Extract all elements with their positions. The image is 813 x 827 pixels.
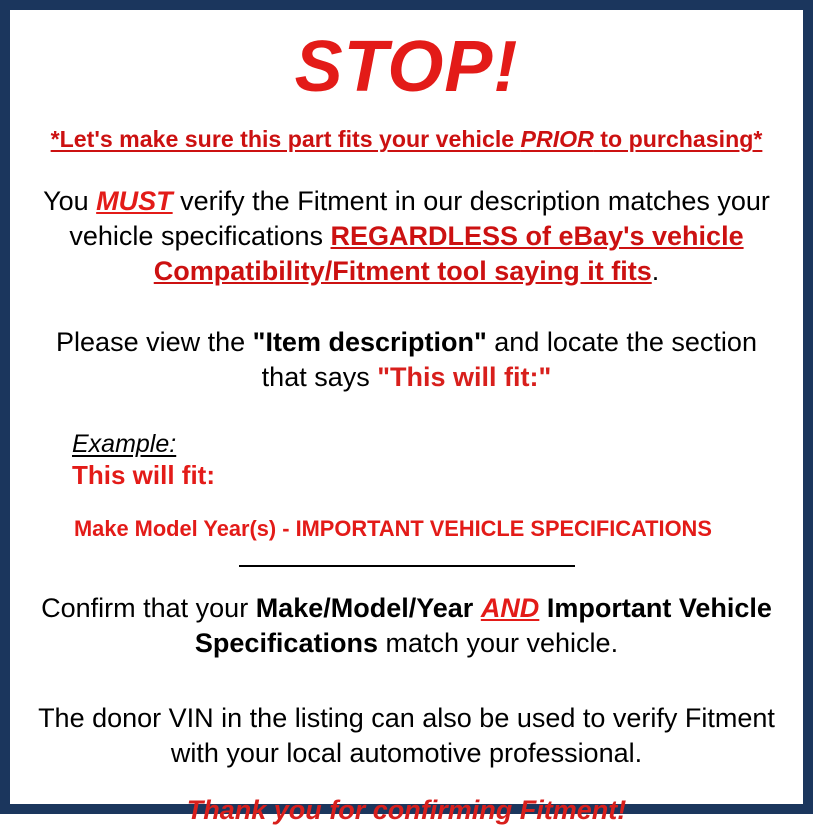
must-emphasis: MUST (96, 186, 173, 216)
page-title: STOP! (24, 24, 789, 110)
must-text-part3: . (652, 256, 660, 286)
divider-wrap (24, 565, 789, 567)
thank-you-message: Thank you for confirming Fitment! (24, 793, 789, 827)
confirm-space1 (473, 593, 481, 623)
please-text-part1: Please view the (56, 327, 253, 357)
paragraph-must-verify: You MUST verify the Fitment in our descr… (24, 184, 789, 289)
confirm-text-part4: match your vehicle. (378, 628, 618, 658)
subtitle-trail-text: to purchasing* (594, 126, 762, 152)
example-label: Example: (72, 429, 176, 459)
paragraph-item-description: Please view the "Item description" and l… (24, 325, 789, 395)
paragraph-confirm-match: Confirm that your Make/Model/Year AND Im… (24, 591, 789, 661)
this-will-fit-quote: "This will fit:" (377, 362, 551, 392)
example-fit-heading: This will fit: (72, 459, 789, 491)
subtitle-lead-text: *Let's make sure this part fits your veh… (51, 126, 521, 152)
confirm-text-part1: Confirm that your (41, 593, 256, 623)
fitment-notice-card: STOP! *Let's make sure this part fits yo… (0, 0, 813, 814)
example-spec-line: Make Model Year(s) - IMPORTANT VEHICLE S… (74, 515, 768, 543)
notice-content: STOP! *Let's make sure this part fits yo… (10, 10, 803, 804)
example-label-row: Example: (72, 429, 789, 459)
confirm-space2 (539, 593, 547, 623)
make-model-year-emphasis: Make/Model/Year (256, 593, 474, 623)
subtitle-banner: *Let's make sure this part fits your veh… (30, 124, 784, 154)
example-block: Example: This will fit: Make Model Year(… (24, 429, 789, 543)
section-divider (239, 565, 575, 567)
and-emphasis: AND (481, 593, 540, 623)
must-text-part1: You (43, 186, 96, 216)
item-description-emphasis: "Item description" (253, 327, 487, 357)
subtitle-emphasis-prior: PRIOR (521, 126, 594, 152)
paragraph-donor-vin: The donor VIN in the listing can also be… (24, 701, 789, 771)
